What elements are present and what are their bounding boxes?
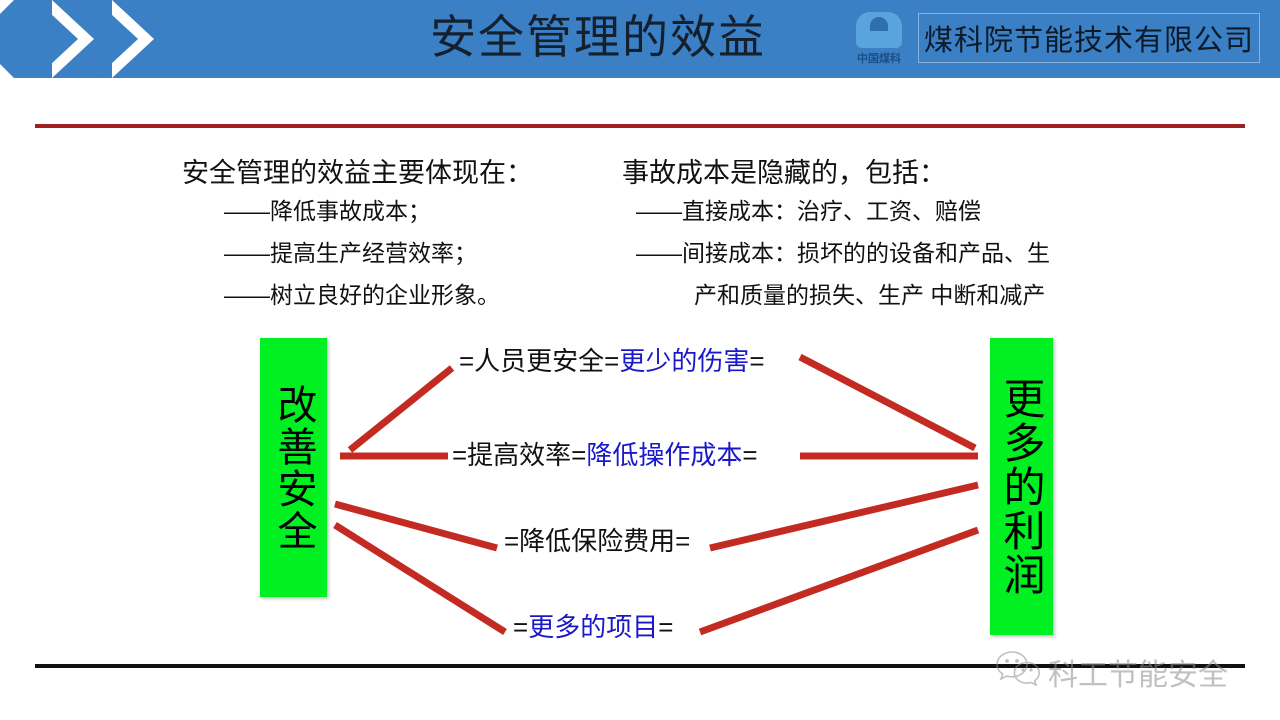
- connector-2-suffix: =: [742, 440, 757, 470]
- diagram-right-box: 更多的利润: [990, 338, 1053, 635]
- logo-caption: 中国煤科: [848, 50, 910, 66]
- connector-label-1: =人员更安全=更少的伤害=: [459, 346, 765, 376]
- connector-1-blue: 更少的伤害: [619, 346, 749, 376]
- company-name-label: 煤科院节能技术有限公司: [924, 17, 1254, 59]
- left-text-column: 安全管理的效益主要体现在： ——降低事故成本； ——提高生产经营效率； ——树立…: [182, 156, 602, 316]
- wechat-watermark: 科工节能安全: [996, 646, 1266, 696]
- connector-label-4: =更多的项目=: [513, 612, 673, 642]
- right-column-heading: 事故成本是隐藏的，包括：: [622, 156, 1092, 190]
- connector-4-suffix: =: [658, 612, 673, 642]
- chevron-cutout-1: [36, 0, 78, 78]
- wechat-icon: [996, 650, 1042, 686]
- left-column-item-3: ——树立良好的企业形象。: [182, 274, 602, 316]
- china-coal-logo: 中国煤科: [848, 12, 910, 70]
- diagram-left-box: 改善安全: [260, 338, 327, 597]
- right-column-item-1: ——直接成本：治疗、工资、赔偿: [622, 190, 1092, 232]
- header-corner-top-left: [0, 0, 14, 14]
- diagram-right-box-label: 更多的利润: [990, 338, 1053, 635]
- connector-2-prefix: =提高效率=: [452, 440, 586, 470]
- page-title: 安全管理的效益: [430, 2, 766, 72]
- connector-1-suffix: =: [749, 346, 764, 376]
- chevron-cutout-2: [96, 0, 138, 78]
- left-column-item-2: ——提高生产经营效率；: [182, 232, 602, 274]
- right-text-column: 事故成本是隐藏的，包括： ——直接成本：治疗、工资、赔偿 ——间接成本：损坏的的…: [622, 156, 1092, 316]
- connector-2-blue: 降低操作成本: [586, 440, 742, 470]
- header-corner-bottom-left: [0, 64, 14, 78]
- connector-3-prefix: =降低保险费用=: [504, 526, 690, 556]
- connector-4-prefix: =: [513, 612, 528, 642]
- left-column-heading: 安全管理的效益主要体现在：: [182, 156, 602, 190]
- top-divider: [35, 124, 1245, 128]
- diagram-left-box-label: 改善安全: [260, 338, 327, 597]
- connector-label-2: =提高效率=降低操作成本=: [452, 440, 758, 470]
- company-name-box: 煤科院节能技术有限公司: [918, 13, 1260, 63]
- right-column-continuation: 产和质量的损失、生产 中断和减产: [622, 274, 1092, 316]
- slide-header: 安全管理的效益 中国煤科 煤科院节能技术有限公司: [0, 0, 1280, 78]
- connector-1-prefix: =人员更安全=: [459, 346, 619, 376]
- connector-4-blue: 更多的项目: [528, 612, 658, 642]
- coal-emblem-icon: [856, 12, 902, 48]
- watermark-label: 科工节能安全: [1048, 650, 1228, 694]
- right-column-item-2: ——间接成本：损坏的的设备和产品、生: [622, 232, 1092, 274]
- connector-label-3: =降低保险费用=: [504, 526, 690, 556]
- left-column-item-1: ——降低事故成本；: [182, 190, 602, 232]
